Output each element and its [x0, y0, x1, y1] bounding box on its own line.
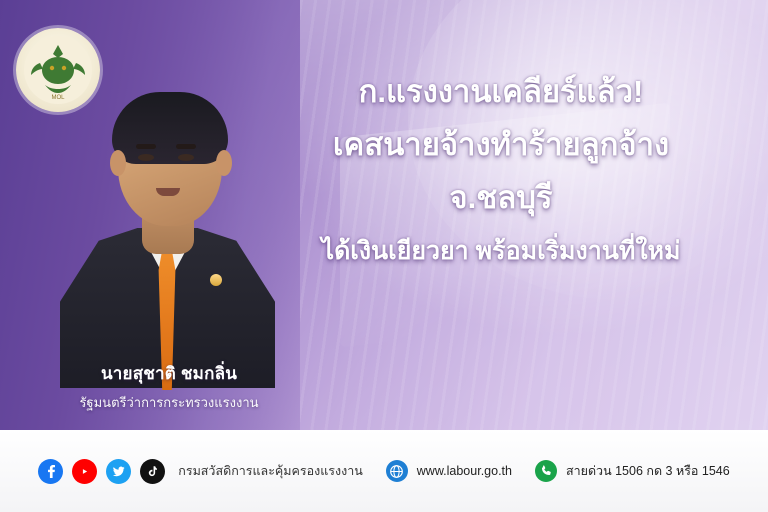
website-url[interactable]: www.labour.go.th	[417, 464, 512, 478]
globe-icon	[386, 460, 408, 482]
minister-name: นายสุชาติ ชมกลิ่น	[34, 360, 304, 387]
minister-role: รัฐมนตรีว่าการกระทรวงแรงงาน	[34, 392, 304, 413]
hotline-text: สายด่วน 1506 กด 3 หรือ 1546	[566, 461, 730, 481]
eye-right	[178, 154, 194, 161]
headline-block: ก.แรงงานเคลียร์แล้ว! เคสนายจ้างทำร้ายลูก…	[248, 72, 754, 268]
headline-line-4: ได้เงินเยียวยา พร้อมเริ่มงานที่ใหม่	[248, 235, 754, 268]
tiktok-icon[interactable]	[140, 459, 165, 484]
lapel-pin-icon	[210, 274, 222, 286]
headline-line-3: จ.ชลบุรี	[248, 178, 754, 219]
eye-left	[138, 154, 154, 161]
banner-artwork: MOL นายสุชาติ ชมกลิ่น รัฐมนตรีว่าการกระท…	[0, 0, 768, 430]
headline-line-1: ก.แรงงานเคลียร์แล้ว!	[248, 72, 754, 113]
ear-right	[216, 150, 232, 176]
department-name: กรมสวัสดิการและคุ้มครองแรงงาน	[178, 461, 362, 481]
eyebrow-right	[176, 144, 196, 149]
ear-left	[110, 150, 126, 176]
headline-line-2: เคสนายจ้างทำร้ายลูกจ้าง	[248, 125, 754, 166]
minister-portrait	[60, 78, 275, 378]
minister-name-block: นายสุชาติ ชมกลิ่น รัฐมนตรีว่าการกระทรวงแ…	[34, 360, 304, 413]
youtube-icon[interactable]	[72, 459, 97, 484]
hair-shape	[112, 92, 228, 164]
footer-inner: กรมสวัสดิการและคุ้มครองแรงงาน www.labour…	[38, 459, 729, 484]
twitter-icon[interactable]	[106, 459, 131, 484]
eyebrow-left	[136, 144, 156, 149]
news-banner: MOL นายสุชาติ ชมกลิ่น รัฐมนตรีว่าการกระท…	[0, 0, 768, 512]
footer-contact-bar: กรมสวัสดิการและคุ้มครองแรงงาน www.labour…	[0, 430, 768, 512]
phone-icon	[535, 460, 557, 482]
facebook-icon[interactable]	[38, 459, 63, 484]
